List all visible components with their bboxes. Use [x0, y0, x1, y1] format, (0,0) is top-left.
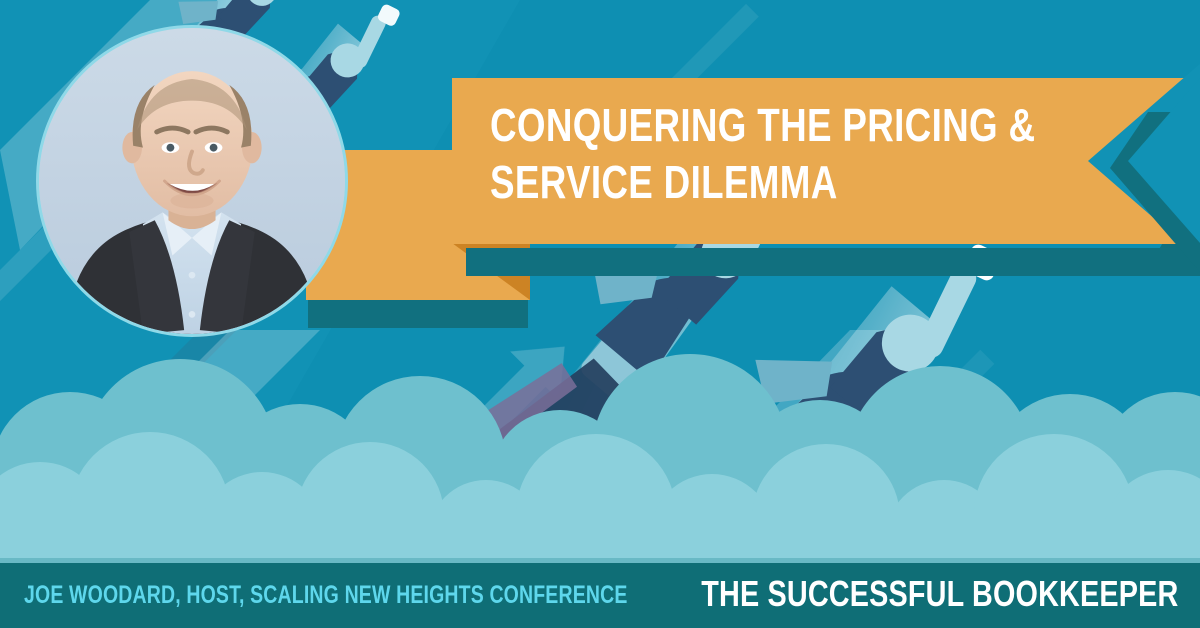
episode-title-line-1: Conquering the Pricing &	[490, 97, 1002, 154]
ribbon-main-shadow	[466, 248, 1200, 276]
ribbon-tail-shadow	[308, 300, 528, 328]
podcast-episode-graphic: Conquering the Pricing & Service Dilemma	[0, 0, 1200, 628]
speaker-portrait	[36, 25, 348, 337]
footer-brand-label: The Successful Bookkeeper	[701, 574, 1178, 614]
episode-title: Conquering the Pricing & Service Dilemma	[490, 97, 1130, 211]
footer-speaker-label: Joe Woodard, Host, Scaling New Heights C…	[24, 582, 628, 609]
speaker-portrait-image	[39, 28, 345, 334]
episode-title-line-2: Service Dilemma	[490, 154, 1002, 211]
